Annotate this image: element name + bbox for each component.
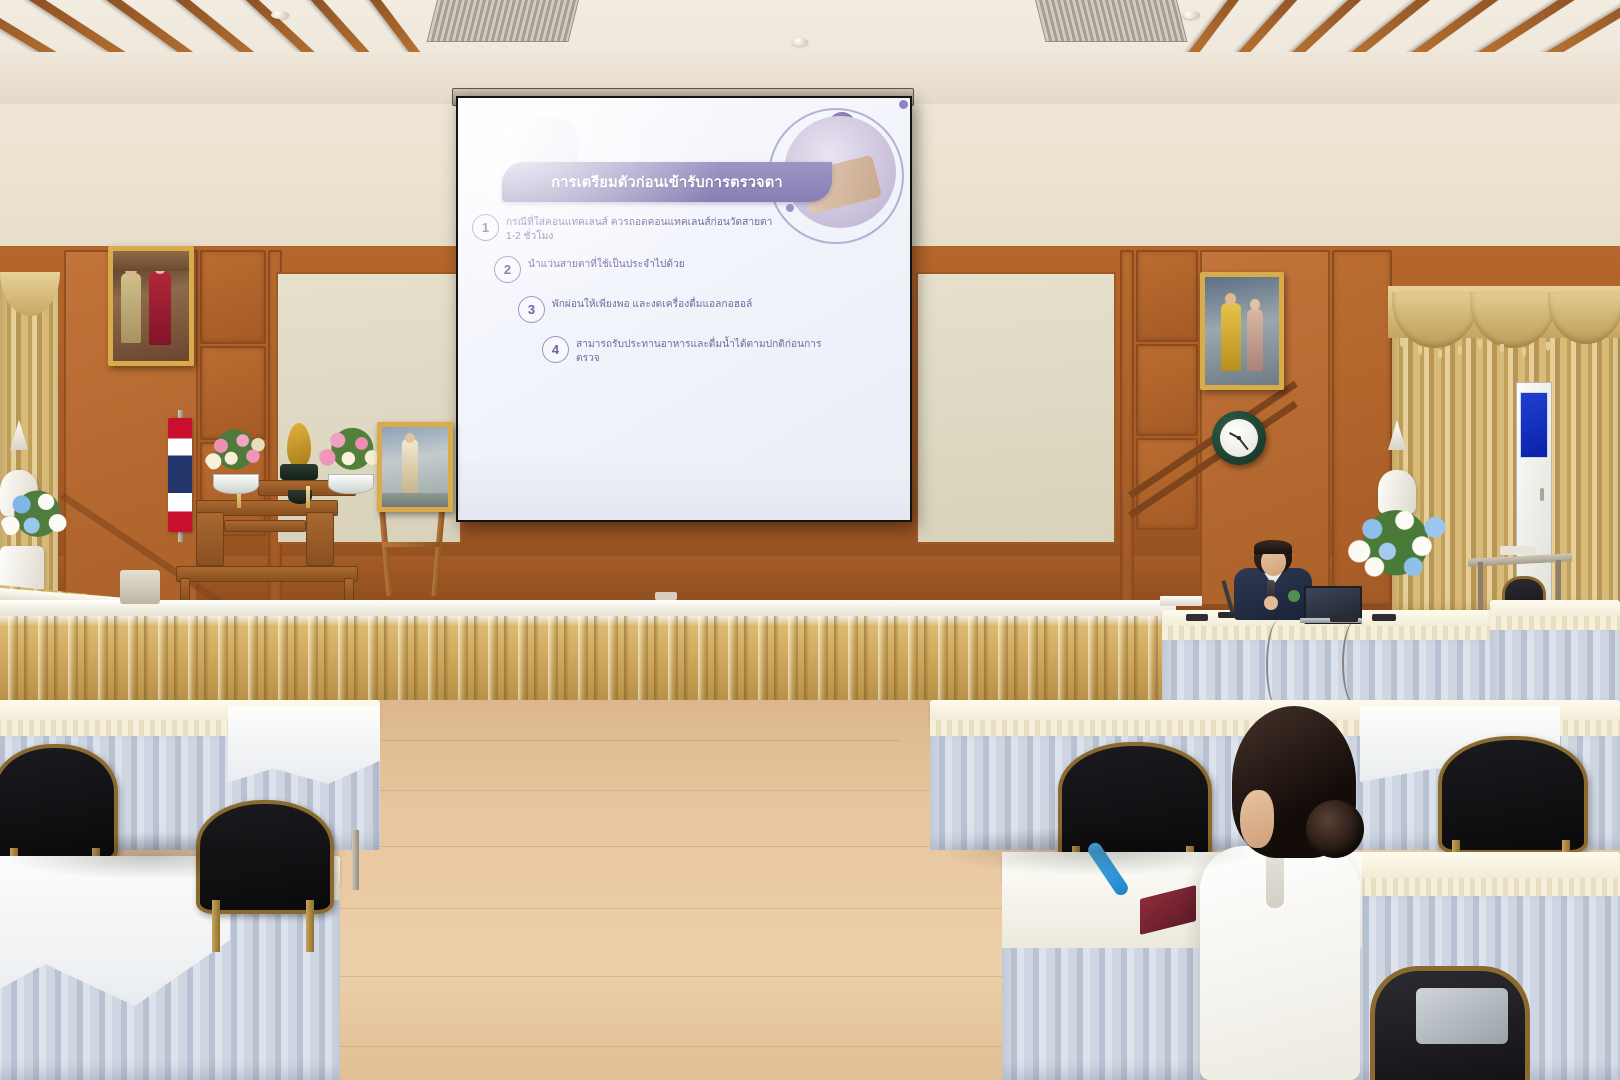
slide-item-text: สามารถรับประทานอาหารและดื่มน้ำได้ตามปกติ… xyxy=(576,336,844,365)
chair-leg xyxy=(212,900,220,952)
floor-plank-line xyxy=(280,908,1020,909)
stage-small-object xyxy=(655,592,677,600)
curtain-tassel xyxy=(1546,342,1550,351)
ceiling-air-vent xyxy=(427,0,580,42)
flower-arrangement-right xyxy=(1342,498,1450,584)
floor-plank-line xyxy=(300,846,980,847)
easel-portrait xyxy=(377,422,453,512)
thai-national-flag xyxy=(168,418,192,532)
conference-room-photo: การเตรียมตัวก่อนเข้ารับการตรวจตา 1 กรณีท… xyxy=(0,0,1620,1080)
royal-portrait-left xyxy=(108,246,194,366)
projection-screen[interactable]: การเตรียมตัวก่อนเข้ารับการตรวจตา 1 กรณีท… xyxy=(456,96,912,522)
altar-table xyxy=(224,520,306,532)
slide-list-item: 4 สามารถรับประทานอาหารและดื่มน้ำได้ตามปก… xyxy=(458,336,910,365)
altar-table xyxy=(306,512,334,566)
flower-arrangement-left xyxy=(0,482,72,548)
floor-plank-line xyxy=(240,1046,1100,1047)
clock-face xyxy=(1220,419,1258,457)
easel-crossbar xyxy=(382,542,440,547)
presenter-hair-front xyxy=(1254,540,1292,554)
curtain-tassel xyxy=(1438,350,1442,359)
candle xyxy=(306,486,310,508)
chair[interactable] xyxy=(1438,736,1580,846)
portrait-image xyxy=(1205,277,1279,385)
wall-cream-panel xyxy=(916,272,1116,544)
bag xyxy=(1416,988,1508,1044)
floor-shadow xyxy=(0,832,300,880)
table-leg xyxy=(352,830,359,890)
ceiling-air-vent xyxy=(1035,0,1188,42)
chair-leg xyxy=(306,900,314,952)
screen-glare xyxy=(458,98,729,309)
curtain-tassel xyxy=(1458,346,1462,355)
table-device xyxy=(1372,614,1396,621)
microphone-base xyxy=(1218,612,1238,618)
slide-decor-dot xyxy=(899,100,908,109)
flower-arrangement xyxy=(318,424,384,478)
side-table-item xyxy=(1500,546,1536,555)
curtain-tassel xyxy=(1500,344,1504,353)
altar-table xyxy=(344,578,354,602)
slide-item-number: 4 xyxy=(542,336,569,363)
side-table-leg xyxy=(1478,562,1483,616)
floor-shadow xyxy=(940,826,1260,876)
document-stack xyxy=(1160,596,1202,606)
presenter-badge xyxy=(1288,590,1300,602)
curtain-tassel xyxy=(1522,348,1526,357)
portrait-image xyxy=(382,427,448,507)
buddha-base xyxy=(280,464,318,480)
chair-back xyxy=(1438,736,1588,854)
ceiling-downlight xyxy=(1182,11,1200,19)
ceiling-downlight xyxy=(271,11,289,19)
stage-equipment xyxy=(120,570,160,604)
wall-panel xyxy=(200,250,266,344)
buddha-statue xyxy=(287,423,311,467)
altar-table xyxy=(196,512,224,566)
clock-center-pin xyxy=(1237,436,1241,440)
stage-skirt xyxy=(0,616,1176,712)
portrait-image xyxy=(113,251,189,361)
curtain-tassel xyxy=(1478,340,1482,349)
door-glass-panel xyxy=(1520,392,1548,458)
attendee-hair-bun xyxy=(1306,800,1364,858)
altar-table xyxy=(176,566,358,582)
curtain-tassel xyxy=(1400,338,1404,347)
wall-clock xyxy=(1212,411,1266,465)
slide-decor-dot xyxy=(786,204,794,212)
presenter-hand xyxy=(1264,596,1278,610)
altar-table xyxy=(180,578,190,602)
floor-plank-line xyxy=(340,740,900,741)
royal-portrait-right xyxy=(1200,272,1284,390)
door-handle[interactable] xyxy=(1540,488,1544,501)
table-device xyxy=(1186,614,1208,621)
wall-panel xyxy=(1120,250,1134,606)
floor-plank-line xyxy=(260,976,1060,977)
wall-panel xyxy=(1136,344,1198,436)
power-cable xyxy=(1342,620,1370,706)
wall-panel xyxy=(1136,250,1198,342)
power-cable xyxy=(1266,620,1292,710)
flower-arrangement xyxy=(203,426,267,478)
floor-plank-line xyxy=(320,790,940,791)
curtain-tassel xyxy=(1418,346,1422,355)
ceiling-downlight xyxy=(792,38,808,46)
